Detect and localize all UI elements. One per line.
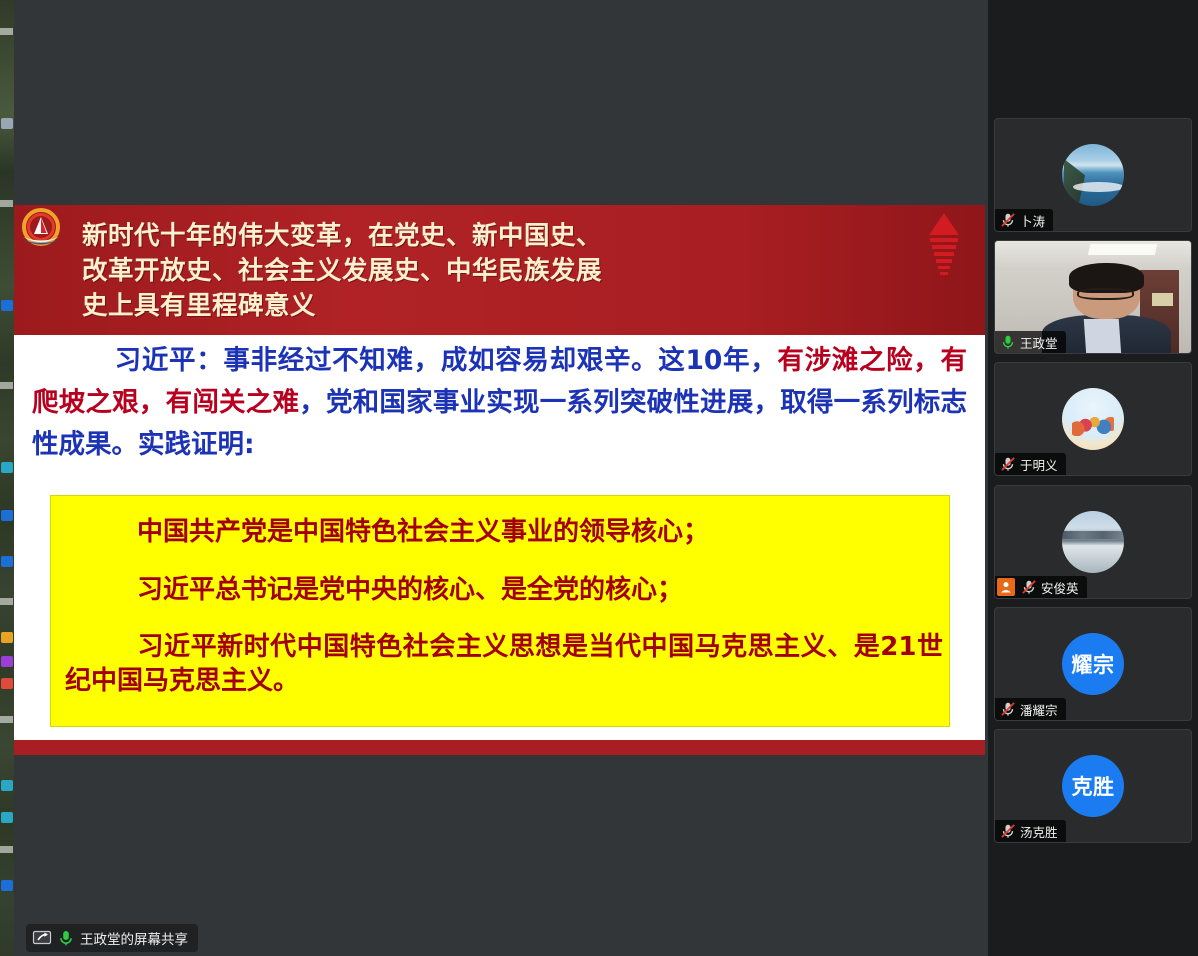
host-person-icon [997,578,1015,596]
desktop-icon[interactable] [1,118,13,129]
highlight-line-3-text: 习近平新时代中国特色社会主义思想是当代中国马克思主义、是21世纪中国马克思主义。 [65,632,943,696]
desktop-icon[interactable] [1,462,13,473]
desktop-icon[interactable] [1,300,13,311]
avatar-initials: 耀宗 [1062,633,1124,695]
avatar [1062,511,1124,573]
slide-banner-title: 新时代十年的伟大变革，在党史、新中国史、 改革开放史、社会主义发展史、中华民族发… [82,219,882,324]
highlight-line-1: 中国共产党是中国特色社会主义事业的领导核心； [65,515,943,549]
screen-share-status-bar: 王政堂的屏幕共享 [26,924,198,952]
avatar [1062,388,1124,450]
screen-share-label: 王政堂的屏幕共享 [80,928,188,948]
desktop-icon[interactable] [1,556,13,567]
participant-tile[interactable]: 耀宗 潘耀宗 [994,607,1192,721]
participant-name-plate: 汤克胜 [995,820,1066,842]
lead-part-1: 习近平：事非经过不知难，成如容易却艰辛。这10年， [114,345,777,376]
participant-name: 卜涛 [1020,211,1045,230]
desktop-icon[interactable] [1,656,13,667]
highlight-line-1-text: 中国共产党是中国特色社会主义事业的领导核心； [137,517,709,547]
participant-tile[interactable]: 于明义 [994,362,1192,476]
desktop-icon[interactable] [1,880,13,891]
microphone-muted-icon [1020,578,1038,596]
microphone-muted-icon [999,455,1017,473]
desktop-icon[interactable] [1,812,13,823]
shared-screen-stage[interactable]: 新时代十年的伟大变革，在党史、新中国史、 改革开放史、社会主义发展史、中华民族发… [14,0,988,956]
participant-name: 于明义 [1020,455,1058,474]
participant-name: 安俊英 [1041,578,1079,597]
microphone-muted-icon [999,822,1017,840]
desktop-icon-label [0,598,13,605]
participant-name: 汤克胜 [1020,822,1058,841]
desktop-icon[interactable] [1,632,13,643]
desktop-icon[interactable] [1,780,13,791]
avatar-initials: 克胜 [1062,755,1124,817]
microphone-on-icon [56,928,76,948]
desktop-icon[interactable] [1,510,13,521]
desktop-icon-label [0,716,13,723]
participant-name: 潘耀宗 [1020,700,1058,719]
participant-name-plate: 潘耀宗 [995,698,1066,720]
avatar [1062,144,1124,206]
microphone-muted-icon [999,700,1017,718]
desktop-icon-label [0,382,13,389]
participant-name: 王政堂 [1020,333,1058,352]
desktop-icon[interactable] [1,678,13,689]
desktop-icon-label [0,846,13,853]
participant-name-plate: 安俊英 [995,576,1087,598]
highlight-line-3: 习近平新时代中国特色社会主义思想是当代中国马克思主义、是21世纪中国马克思主义。 [65,630,943,698]
sail-emblem-logo [18,207,64,253]
participant-filmstrip[interactable]: 卜涛 王政堂 [988,0,1198,956]
participant-tile[interactable]: 王政堂 [994,240,1192,354]
slide-highlight-box: 中国共产党是中国特色社会主义事业的领导核心； 习近平总书记是党中央的核心、是全党… [50,495,950,727]
participant-name-plate: 卜涛 [995,209,1053,231]
microphone-muted-icon [999,211,1017,229]
desktop-icon-label [0,200,13,207]
presentation-slide: 新时代十年的伟大变革，在党史、新中国史、 改革开放史、社会主义发展史、中华民族发… [14,205,985,755]
participant-tile[interactable]: 克胜 汤克胜 [994,729,1192,843]
participant-name-plate: 王政堂 [995,331,1066,353]
slide-body: 习近平：事非经过不知难，成如容易却艰辛。这10年，有涉滩之险，有爬坡之艰，有闯关… [14,335,985,740]
highlight-line-2: 习近平总书记是党中央的核心、是全党的核心； [65,573,943,607]
desktop-icon-label [0,28,13,35]
screen-root: 新时代十年的伟大变革，在党史、新中国史、 改革开放史、社会主义发展史、中华民族发… [0,0,1198,956]
participant-tile[interactable]: 安俊英 [994,485,1192,599]
slide-footer-bar [14,740,985,755]
participant-tile[interactable]: 卜涛 [994,118,1192,232]
slide-lead-paragraph: 习近平：事非经过不知难，成如容易却艰辛。这10年，有涉滩之险，有爬坡之艰，有闯关… [32,340,967,466]
red-diamond-ornament-icon [917,211,971,281]
highlight-line-2-text: 习近平总书记是党中央的核心、是全党的核心； [137,575,683,605]
participant-name-plate: 于明义 [995,453,1066,475]
screen-share-icon [32,928,52,948]
microphone-on-icon [999,333,1017,351]
slide-title-banner: 新时代十年的伟大变革，在党史、新中国史、 改革开放史、社会主义发展史、中华民族发… [14,205,985,335]
desktop-background-sliver [0,0,14,956]
